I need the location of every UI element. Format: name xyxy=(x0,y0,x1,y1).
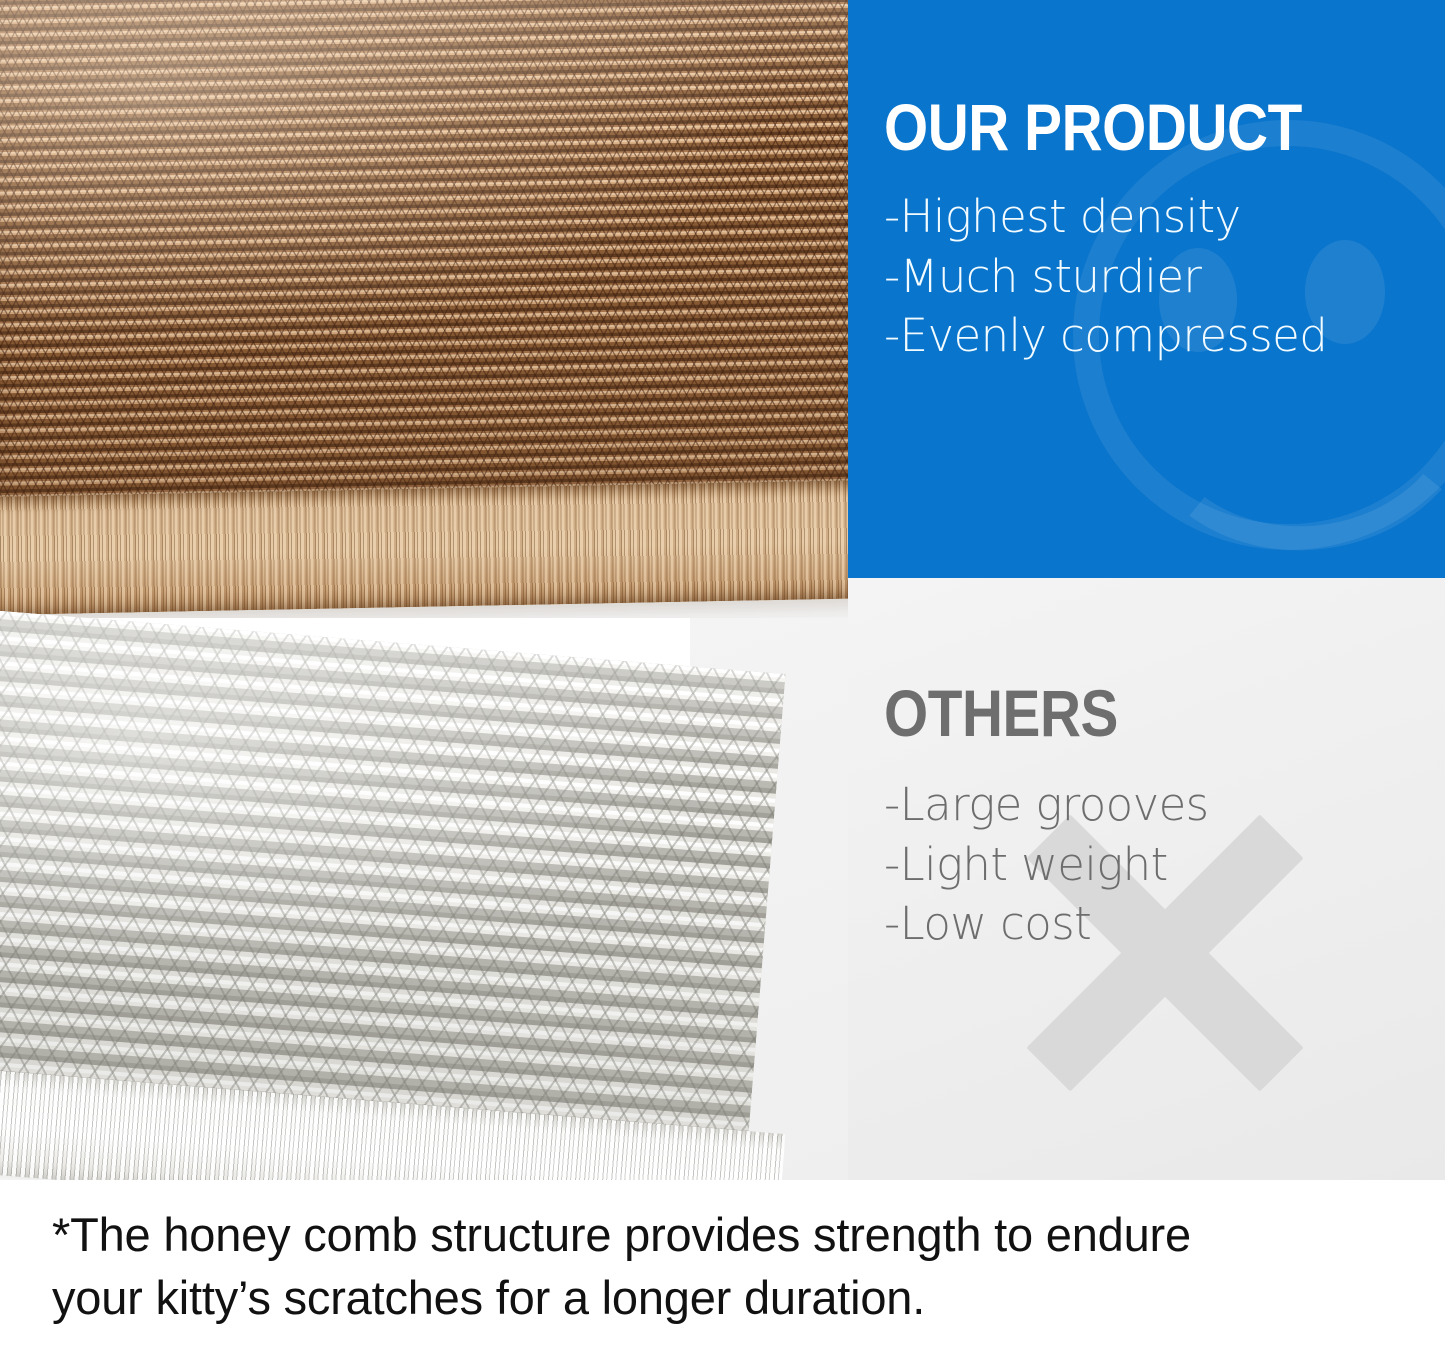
others-bullet-1: -Large grooves xyxy=(884,775,1209,834)
our-product-heading: OUR PRODUCT xyxy=(884,96,1302,159)
others-heading: OTHERS xyxy=(884,682,1163,745)
others-bullet-3: -Low cost xyxy=(884,894,1209,953)
others-text-block: OTHERS -Large grooves -Light weight -Low… xyxy=(884,682,1209,954)
our-product-bullet-2: -Much sturdier xyxy=(884,247,1370,306)
others-bullet-list: -Large grooves -Light weight -Low cost xyxy=(884,775,1209,953)
cardboard-side-edge xyxy=(0,480,870,615)
cardboard-honeycomb-surface xyxy=(0,0,870,510)
our-product-bullet-list: -Highest density -Much sturdier -Evenly … xyxy=(884,187,1370,365)
others-photo xyxy=(0,600,880,1190)
others-bullet-2: -Light weight xyxy=(884,835,1209,894)
our-product-photo xyxy=(0,0,870,618)
our-product-bullet-3: -Evenly compressed xyxy=(884,306,1370,365)
footnote-text: *The honey comb structure provides stren… xyxy=(52,1204,1412,1329)
infographic-canvas: OUR PRODUCT -Highest density -Much sturd… xyxy=(0,0,1445,1372)
footnote-line-1: *The honey comb structure provides stren… xyxy=(52,1204,1412,1267)
our-product-bullet-1: -Highest density xyxy=(884,187,1370,246)
white-honeycomb-surface xyxy=(0,610,785,1151)
footnote-bar: *The honey comb structure provides stren… xyxy=(0,1180,1445,1372)
our-product-text-block: OUR PRODUCT -Highest density -Much sturd… xyxy=(884,96,1370,366)
footnote-line-2: your kitty’s scratches for a longer dura… xyxy=(52,1267,1412,1330)
